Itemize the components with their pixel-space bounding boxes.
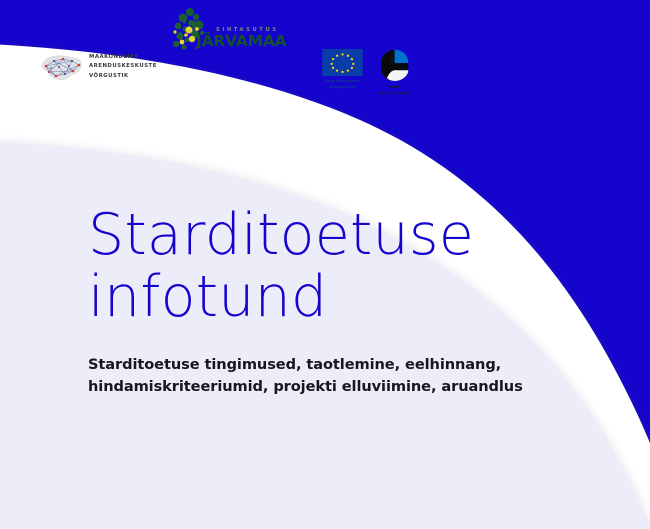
logo-strip: MAAKONDLIKE ARENDUSKESKUSTE VÕRGUSTIK — [0, 0, 650, 100]
logo-eu-funding-lockup: Kaasrahastanud Euroopa Liit Eesti tulevi… — [322, 49, 411, 96]
estonia-network-map-icon — [38, 50, 84, 84]
jarvamaa-wordmark: SIHTASUTUS JÄRVAMAA — [196, 28, 286, 49]
estonia-flag-emblem-icon — [377, 49, 411, 83]
slide-content: Starditoetuse infotund Starditoetuse tin… — [88, 205, 558, 399]
eu-caption: Kaasrahastanud Euroopa Liit — [325, 79, 359, 90]
estonia-caption: Eesti tuleviku heaks — [378, 85, 409, 96]
presentation-slide: MAAKONDLIKE ARENDUSKESKUSTE VÕRGUSTIK — [0, 0, 650, 529]
slide-title: Starditoetuse infotund — [88, 205, 558, 328]
mak-logo-text: MAAKONDLIKE ARENDUSKESKUSTE VÕRGUSTIK — [89, 53, 157, 81]
logo-sihtasutus-jarvamaa: SIHTASUTUS JÄRVAMAA — [168, 7, 283, 55]
jarvamaa-name: JÄRVAMAA — [196, 33, 286, 49]
european-union-flag-icon — [322, 49, 363, 76]
eu-logo-block: Kaasrahastanud Euroopa Liit — [322, 49, 363, 90]
slide-subtitle: Starditoetuse tingimused, taotlemine, ee… — [88, 354, 558, 399]
estonia-logo-block: Eesti tuleviku heaks — [377, 49, 411, 96]
logo-maakondlike-arenduskeskuste-vorgustik: MAAKONDLIKE ARENDUSKESKUSTE VÕRGUSTIK — [38, 50, 157, 84]
